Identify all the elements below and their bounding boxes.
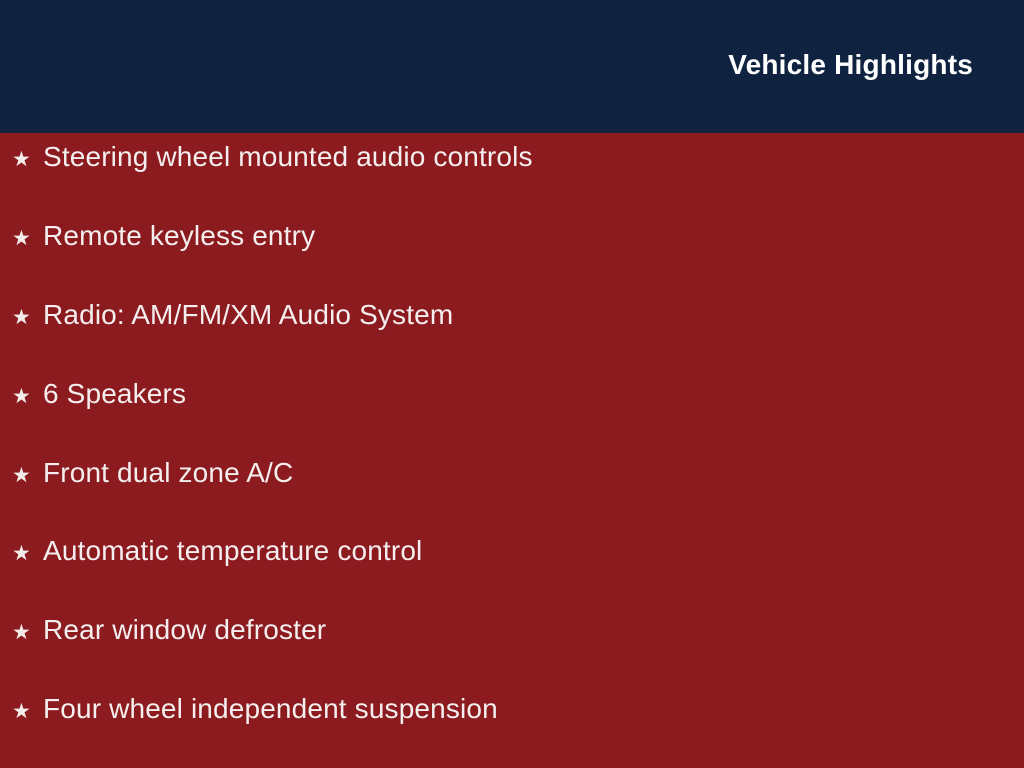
star-icon: ★ bbox=[12, 530, 43, 578]
list-item: ★ Remote keyless entry bbox=[0, 212, 1024, 291]
star-icon: ★ bbox=[12, 215, 43, 263]
list-item: ★ Automatic temperature control bbox=[0, 527, 1024, 606]
star-icon: ★ bbox=[12, 609, 43, 657]
list-item-label: 6 Speakers bbox=[43, 370, 186, 418]
star-icon: ★ bbox=[12, 373, 43, 421]
list-item: ★ Radio: AM/FM/XM Audio System bbox=[0, 291, 1024, 370]
list-item: ★ Four wheel independent suspension bbox=[0, 685, 1024, 764]
list-item-label: Four wheel independent suspension bbox=[43, 685, 498, 733]
star-icon: ★ bbox=[12, 452, 43, 500]
list-item: ★ Front dual zone A/C bbox=[0, 449, 1024, 528]
list-item-label: Steering wheel mounted audio controls bbox=[43, 133, 533, 181]
list-item: ★ Steering wheel mounted audio controls bbox=[0, 133, 1024, 212]
slide-body: ★ Steering wheel mounted audio controls … bbox=[0, 133, 1024, 768]
list-item: ★ 6 Speakers bbox=[0, 370, 1024, 449]
list-item-label: Rear window defroster bbox=[43, 606, 326, 654]
star-icon: ★ bbox=[12, 294, 43, 342]
list-item-label: Radio: AM/FM/XM Audio System bbox=[43, 291, 453, 339]
star-icon: ★ bbox=[12, 136, 43, 184]
vehicle-highlights-list: ★ Steering wheel mounted audio controls … bbox=[0, 133, 1024, 764]
slide-header-band: Vehicle Highlights bbox=[0, 0, 1024, 133]
list-item-label: Remote keyless entry bbox=[43, 212, 315, 260]
star-icon: ★ bbox=[12, 688, 43, 736]
list-item: ★ Rear window defroster bbox=[0, 606, 1024, 685]
list-item-label: Automatic temperature control bbox=[43, 527, 422, 575]
page-title: Vehicle Highlights bbox=[728, 48, 973, 82]
presentation-slide: Vehicle Highlights ★ Steering wheel moun… bbox=[0, 0, 1024, 768]
list-item-label: Front dual zone A/C bbox=[43, 449, 293, 497]
